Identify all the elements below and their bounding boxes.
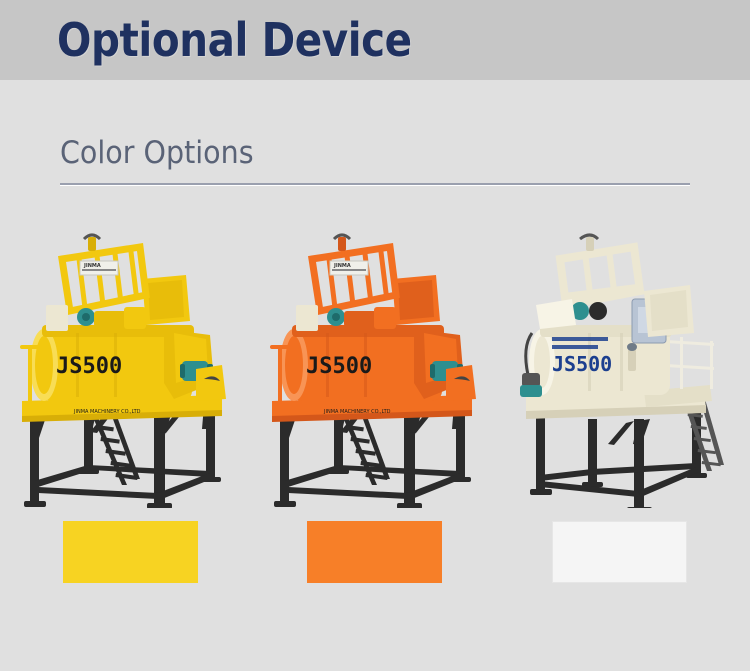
mixer-hopper-yellow: JINMA bbox=[46, 235, 190, 331]
model-label-orange: JS500 bbox=[306, 354, 372, 379]
brand-plate-orange: JINMA bbox=[333, 263, 351, 269]
color-swatch-yellow[interactable] bbox=[63, 521, 198, 583]
product-cell-orange[interactable]: JINMA MACHINERY CO.,LTD JS50 bbox=[250, 225, 500, 515]
mixer-illustration-orange: JINMA MACHINERY CO.,LTD JS50 bbox=[264, 233, 486, 508]
model-label-white: JS500 bbox=[552, 352, 612, 376]
color-swatch-white[interactable] bbox=[552, 521, 687, 583]
page-header-bar: Optional Device bbox=[0, 0, 750, 80]
color-options-section: Color Options bbox=[60, 135, 690, 186]
page-title: Optional Device bbox=[57, 10, 412, 70]
mixer-illustration-yellow: JINMA MACHINERY CO.,LTD bbox=[14, 233, 236, 508]
brand-plate-yellow: JINMA bbox=[83, 263, 101, 269]
section-title: Color Options bbox=[60, 135, 640, 183]
product-cell-white[interactable]: JS500 bbox=[500, 225, 750, 515]
mixer-svg-yellow: JINMA MACHINERY CO.,LTD bbox=[14, 233, 236, 508]
mixer-svg-white: JS500 bbox=[514, 233, 736, 508]
mixer-drum-orange: JS500 bbox=[270, 325, 476, 401]
svg-text:JINMA MACHINERY CO.,LTD: JINMA MACHINERY CO.,LTD bbox=[323, 409, 391, 415]
product-cell-yellow[interactable]: JINMA MACHINERY CO.,LTD bbox=[0, 225, 250, 515]
swatch-cell-orange bbox=[250, 521, 500, 583]
mixer-hopper-orange: JINMA bbox=[296, 235, 440, 331]
ladder-yellow bbox=[92, 411, 140, 485]
mixer-hopper-white bbox=[536, 235, 694, 337]
product-gallery: JINMA MACHINERY CO.,LTD bbox=[0, 225, 750, 515]
mixer-drum-yellow: JS500 bbox=[20, 325, 226, 401]
mixer-illustration-white: JS500 bbox=[514, 233, 736, 508]
color-swatch-orange[interactable] bbox=[307, 521, 442, 583]
swatch-cell-white bbox=[500, 521, 750, 583]
model-label-yellow: JS500 bbox=[56, 354, 122, 379]
color-swatch-row bbox=[0, 521, 750, 583]
mixer-svg-orange: JINMA MACHINERY CO.,LTD JS50 bbox=[264, 233, 486, 508]
svg-text:JINMA MACHINERY CO.,LTD: JINMA MACHINERY CO.,LTD bbox=[73, 409, 141, 415]
section-divider bbox=[60, 183, 690, 186]
ladder-orange bbox=[342, 411, 390, 485]
swatch-cell-yellow bbox=[0, 521, 250, 583]
